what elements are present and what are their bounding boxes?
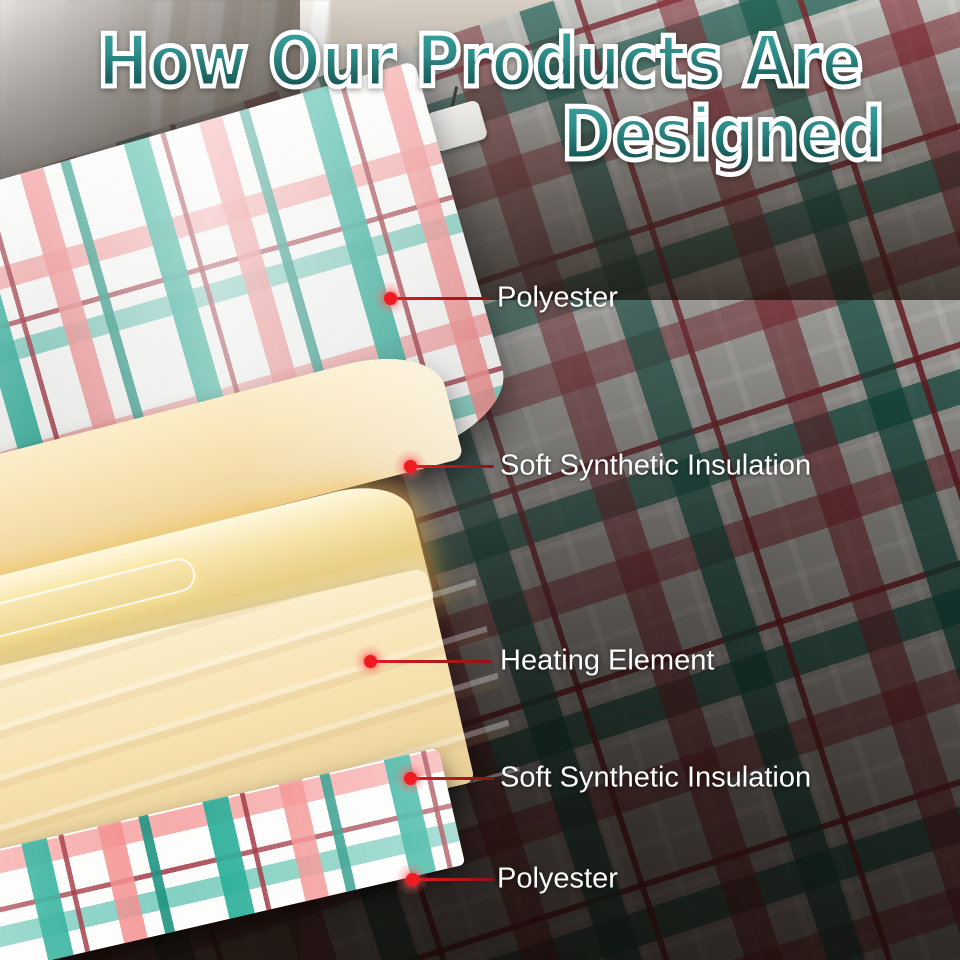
callout-marker-dot[interactable] (404, 772, 417, 785)
callout-label: Soft Synthetic Insulation (500, 762, 811, 795)
title-line-2-text: Designed (561, 101, 884, 168)
callout-label: Polyester (497, 863, 618, 896)
callout-leader-line (394, 297, 489, 300)
page-title: How Our Products Are Designed (0, 28, 960, 960)
callout-marker-dot[interactable] (364, 655, 377, 668)
callout-marker-dot[interactable] (406, 873, 419, 886)
title-line-1: How Our Products Are (67, 28, 893, 95)
callout-label: Heating Element (500, 645, 714, 678)
callout-leader-line (414, 465, 494, 468)
callout-marker-dot[interactable] (384, 292, 397, 305)
callout-label: Soft Synthetic Insulation (500, 450, 811, 483)
title-line-2: Designed (67, 101, 893, 168)
callout-marker-dot[interactable] (404, 460, 417, 473)
callout-leader-line (374, 660, 492, 663)
callout-leader-line (414, 777, 494, 780)
product-infographic: How Our Products Are Designed PolyesterS… (0, 0, 960, 960)
callout-leader-line (416, 878, 494, 881)
callout-label: Polyester (497, 282, 618, 315)
